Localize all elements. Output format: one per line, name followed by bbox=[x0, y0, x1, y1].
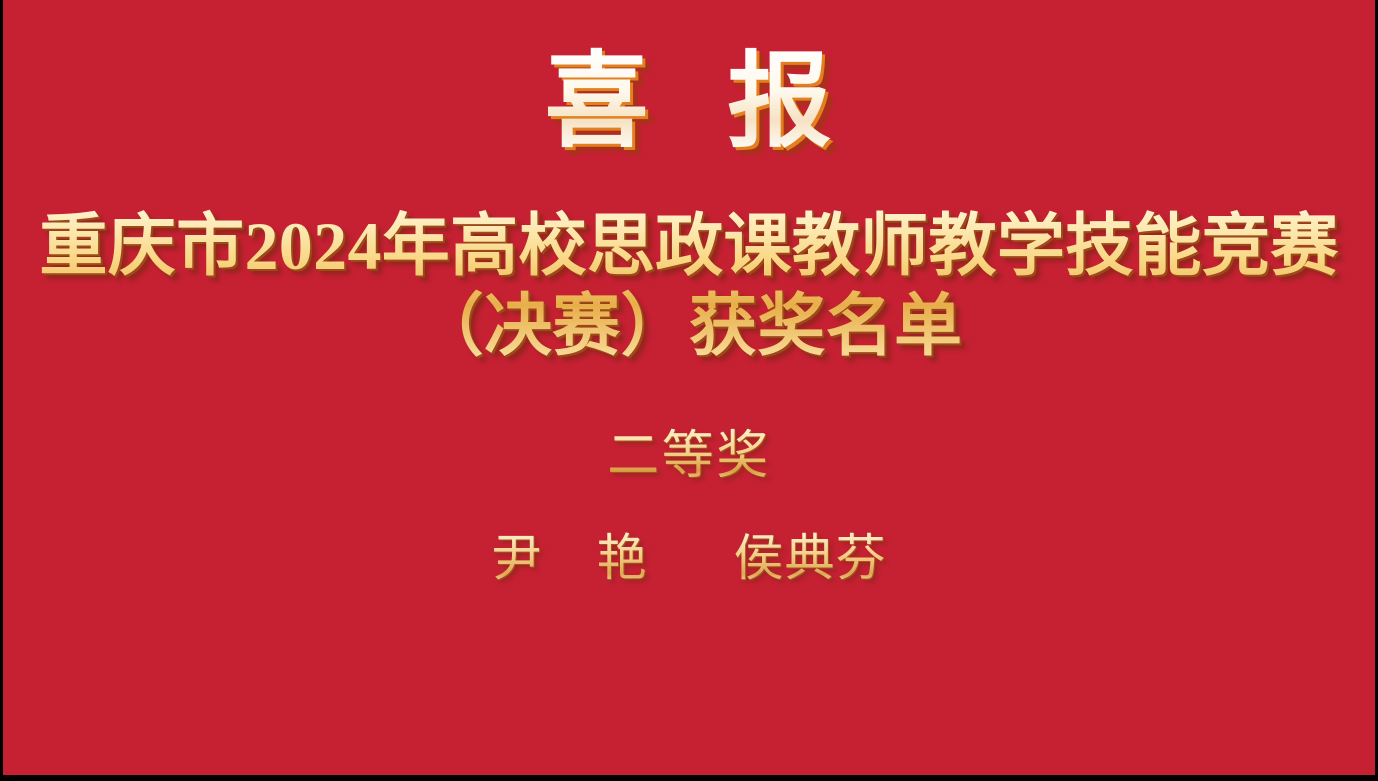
event-title: 重庆市2024年高校思政课教师教学技能竞赛 （决赛）获奖名单 bbox=[3, 206, 1375, 366]
winner-names-row: 尹 艳 侯典芬 bbox=[492, 530, 887, 586]
headline-container: 喜 报 bbox=[3, 46, 1375, 155]
winner-name: 侯典芬 bbox=[734, 530, 887, 586]
page-title: 喜 报 bbox=[545, 46, 834, 155]
announcement-slide: 喜 报 重庆市2024年高校思政课教师教学技能竞赛 （决赛）获奖名单 二等奖 尹… bbox=[0, 0, 1378, 781]
award-level-label: 二等奖 bbox=[607, 428, 771, 485]
winner-names-container: 尹 艳 侯典芬 bbox=[3, 530, 1375, 586]
subheadline-container: 重庆市2024年高校思政课教师教学技能竞赛 （决赛）获奖名单 bbox=[3, 206, 1375, 366]
award-level-container: 二等奖 bbox=[3, 428, 1375, 485]
winner-name: 尹 艳 bbox=[492, 530, 648, 586]
